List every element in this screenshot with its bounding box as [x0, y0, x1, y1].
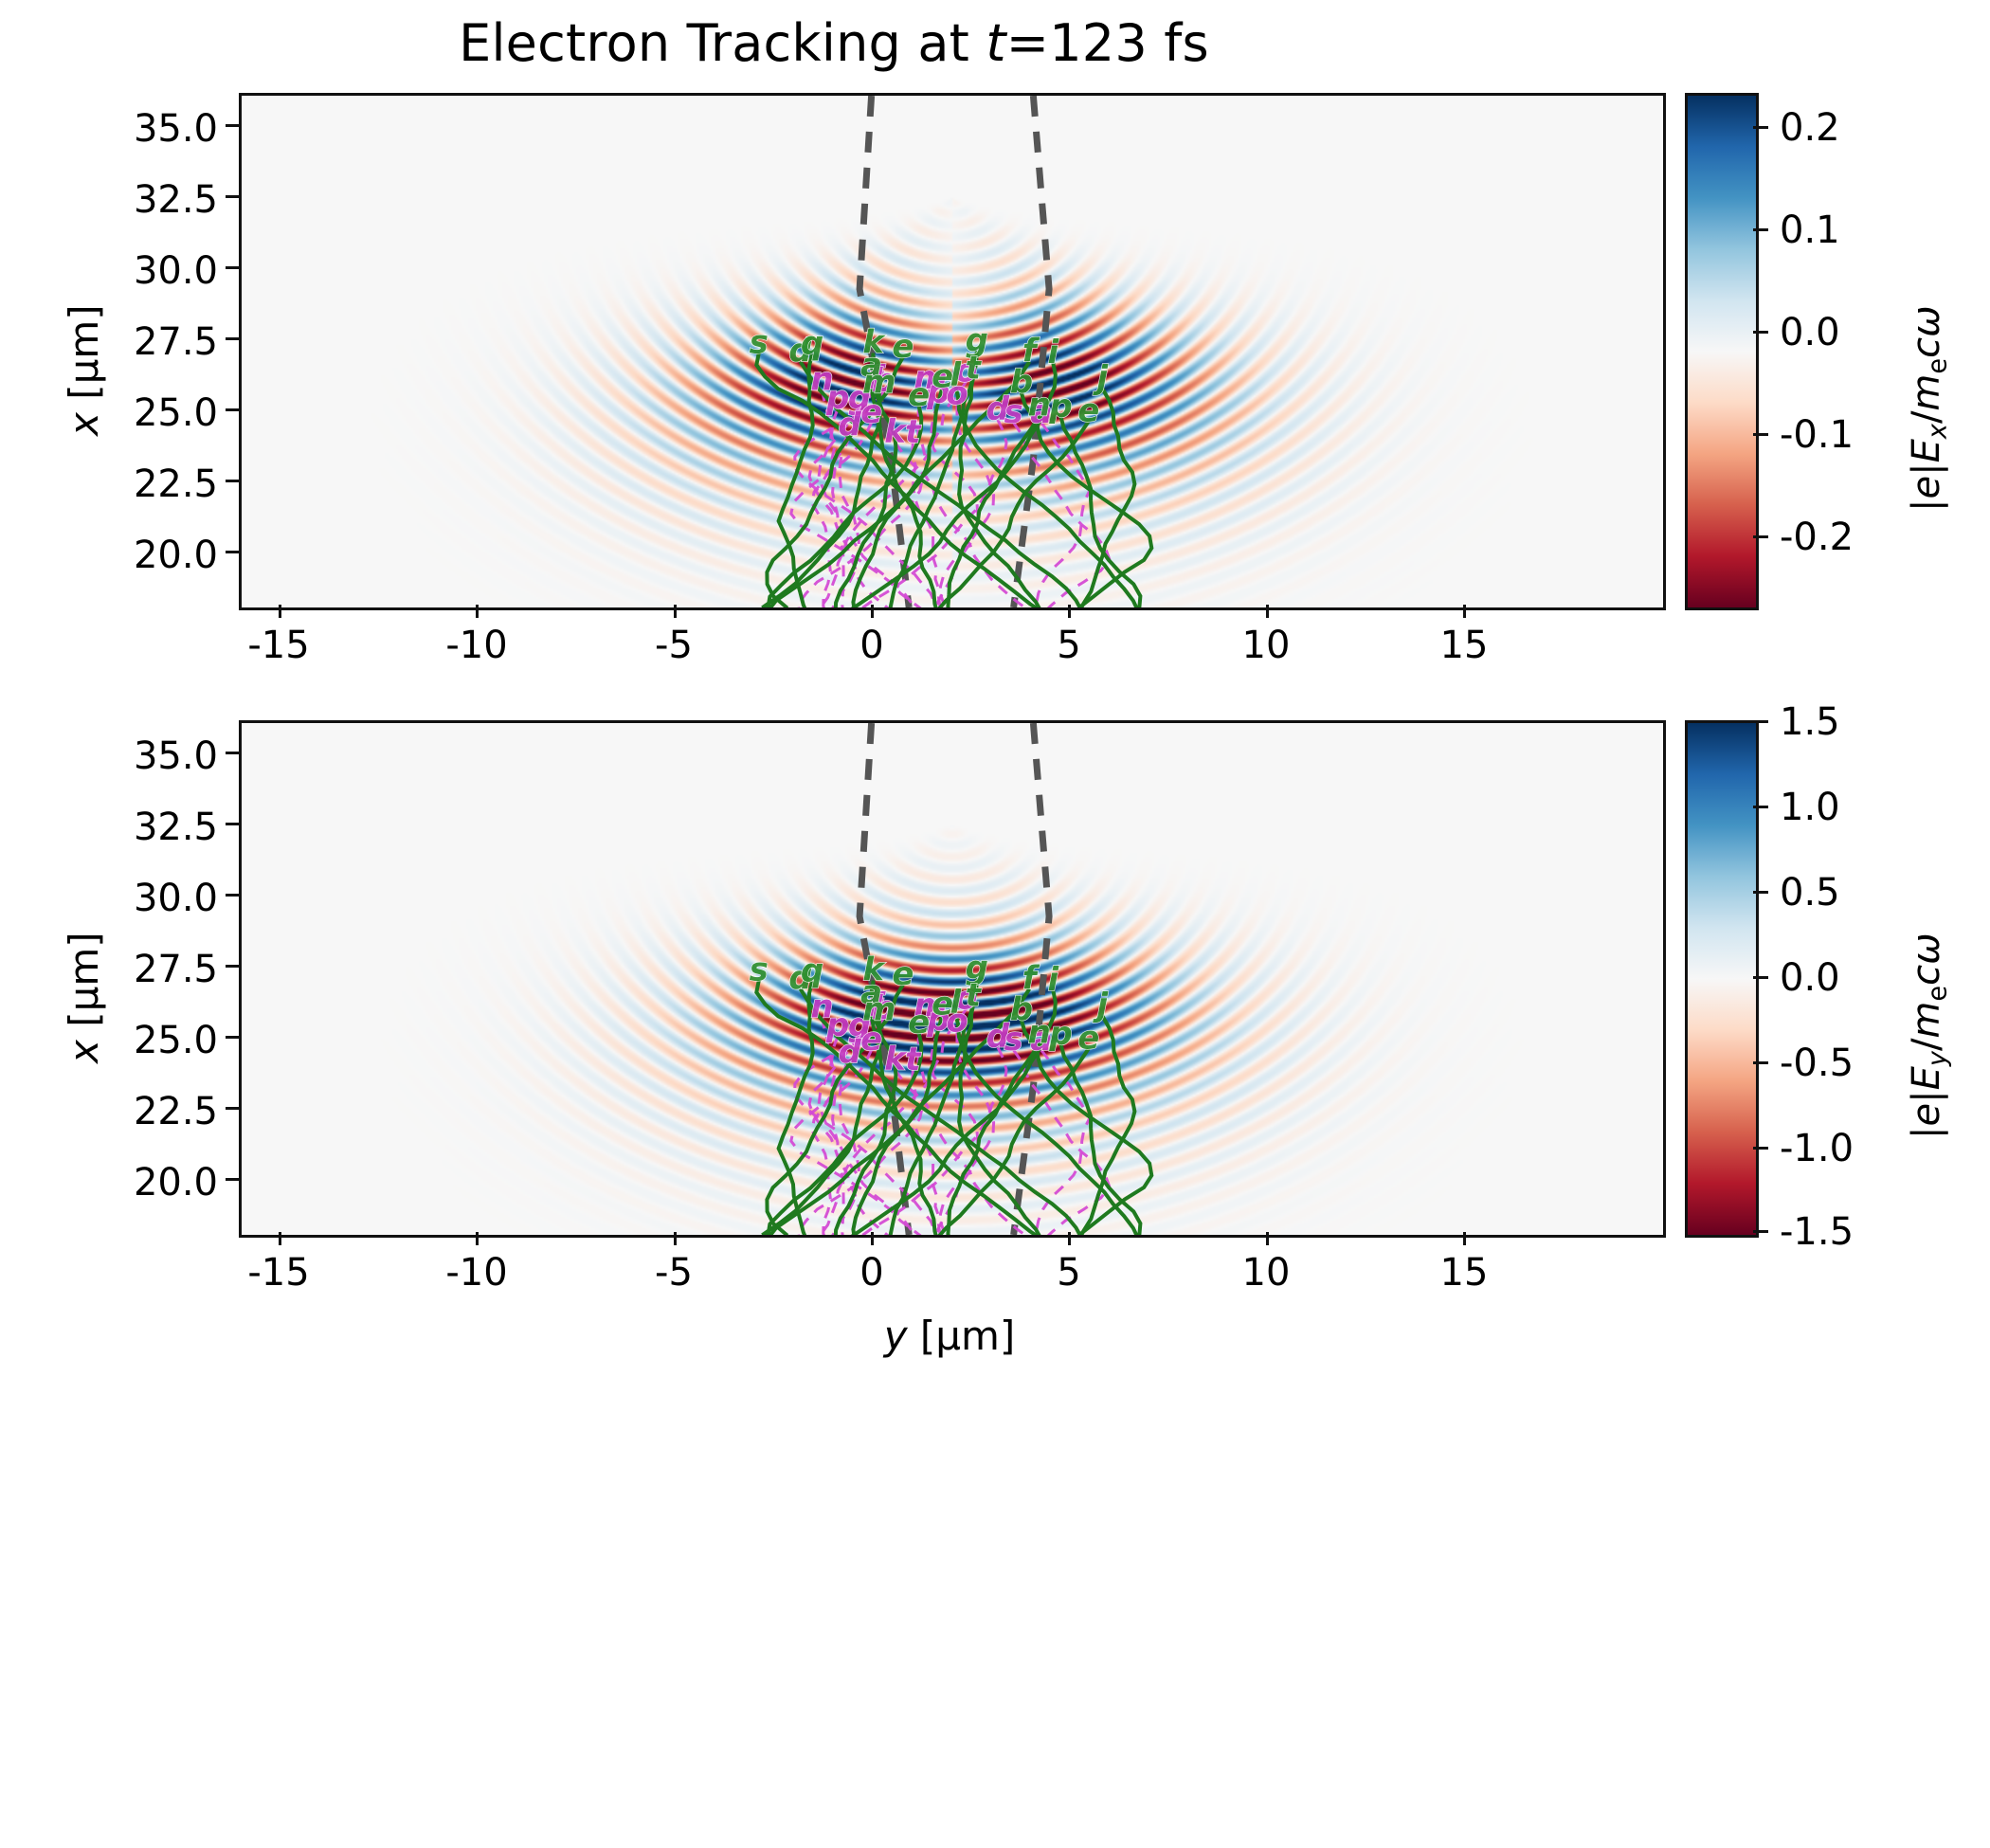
green-track-label: n — [1028, 387, 1051, 425]
xtick-ey-0: -15 — [184, 1251, 373, 1295]
ytickmark-ey — [226, 823, 239, 825]
green-track-label: e — [1077, 392, 1099, 430]
green-track-label: e — [908, 1004, 930, 1042]
magenta-track-label: t — [905, 413, 922, 451]
cbtickmark-ex — [1753, 126, 1768, 129]
xtick-ex-3: 0 — [777, 624, 967, 667]
xtick-ey-6: 15 — [1369, 1251, 1559, 1295]
figure-root: Electron Tracking at t=123 fs nfbgempood… — [0, 0, 1990, 1848]
cbtick-ex-2: 0.0 — [1780, 311, 1840, 354]
green-track-label: t — [966, 977, 983, 1015]
cbtickmark-ey — [1753, 1230, 1768, 1233]
xtickmark-ey — [871, 1232, 874, 1245]
green-track-label: m — [862, 991, 895, 1029]
xtick-ex-0: -15 — [184, 624, 373, 667]
figure-title: Electron Tracking at t=123 fs — [0, 13, 1668, 73]
magenta-trajectory — [1029, 423, 1090, 607]
green-track-label: e — [892, 328, 914, 366]
ytick-ey-6: 20.0 — [28, 1161, 218, 1205]
ytick-ex-2: 30.0 — [28, 249, 218, 293]
y-axis-label-var: x — [61, 412, 107, 436]
green-track-label: s — [750, 951, 769, 989]
ytickmark-ey — [226, 1107, 239, 1110]
ytickmark-ex — [226, 124, 239, 127]
xtick-ey-5: 10 — [1171, 1251, 1361, 1295]
green-track-label: t — [966, 350, 983, 388]
title-equals: = — [1006, 13, 1049, 73]
ytickmark-ex — [226, 195, 239, 198]
ytick-ex-3: 27.5 — [28, 320, 218, 364]
cbtickmark-ey — [1753, 1061, 1768, 1064]
magenta-track-label: k — [884, 413, 908, 451]
ytick-ey-1: 32.5 — [28, 806, 218, 849]
ytick-ey-5: 22.5 — [28, 1090, 218, 1133]
green-track-label: q — [801, 324, 823, 362]
green-track-label: e — [908, 376, 930, 414]
xtickmark-ex — [1068, 605, 1071, 618]
colorbar-ey — [1685, 720, 1759, 1238]
x-axis-label: y [μm] — [665, 1313, 1234, 1359]
cbtick-ex-0: 0.2 — [1780, 106, 1840, 150]
plot-area-ex[interactable]: nfbgempoodsatkpdsdqkeamegltfibnpjee — [239, 93, 1666, 610]
ytickmark-ex — [226, 408, 239, 411]
ytick-ey-0: 35.0 — [28, 734, 218, 778]
ytickmark-ex — [226, 551, 239, 553]
xtickmark-ex — [871, 605, 874, 618]
green-track-label: q — [801, 951, 823, 989]
ytickmark-ey — [226, 1178, 239, 1181]
green-track-label: p — [1048, 1015, 1072, 1053]
ytick-ex-0: 35.0 — [28, 107, 218, 151]
xtickmark-ex — [1266, 605, 1269, 618]
cbtick-ey-0: 1.5 — [1780, 700, 1840, 744]
xtickmark-ey — [674, 1232, 677, 1245]
magenta-track-label: d — [839, 1034, 862, 1072]
magenta-trajectory — [1029, 1050, 1090, 1235]
xtickmark-ey — [279, 1232, 281, 1245]
plot-area-ey[interactable]: nfbgempoodsatkpdsdqkeamegltfibnpjee — [239, 720, 1666, 1238]
xtick-ey-3: 0 — [777, 1251, 967, 1295]
xtick-ey-1: -10 — [382, 1251, 571, 1295]
ytick-ex-4: 25.0 — [28, 391, 218, 435]
green-track-label: e — [892, 955, 914, 993]
green-track-label: l — [950, 984, 962, 1022]
y-axis-label-unit: [μm] — [61, 932, 107, 1040]
cbtick-ey-1: 1.0 — [1780, 786, 1840, 829]
xtickmark-ey — [476, 1232, 479, 1245]
green-track-label: s — [750, 324, 769, 362]
ytickmark-ey — [226, 965, 239, 968]
y-axis-label-ex: x [μm] — [61, 304, 107, 436]
colorbar-ex — [1685, 93, 1759, 610]
title-unit: fs — [1148, 13, 1209, 73]
ytick-ey-4: 25.0 — [28, 1019, 218, 1062]
xtickmark-ex — [674, 605, 677, 618]
ytickmark-ey — [226, 894, 239, 897]
cbtickmark-ey — [1753, 1147, 1768, 1150]
title-variable: t — [986, 13, 1005, 73]
green-track-label: n — [1028, 1014, 1051, 1052]
x-axis-label-var: y — [884, 1313, 908, 1359]
ytickmark-ey — [226, 1036, 239, 1039]
cbtickmark-ey — [1753, 976, 1768, 979]
xtick-ex-6: 15 — [1369, 624, 1559, 667]
y-axis-label-var: x — [61, 1040, 107, 1063]
colorbar-label-ex: |e|Ex/mecω — [1905, 305, 1953, 512]
colorbar-label-ey: |e|Ey/mecω — [1905, 933, 1953, 1139]
cbtick-ey-2: 0.5 — [1780, 871, 1840, 915]
green-track-label: i — [1047, 961, 1059, 999]
xtickmark-ey — [1463, 1232, 1466, 1245]
xtick-ey-4: 5 — [974, 1251, 1164, 1295]
cbtickmark-ey — [1753, 720, 1768, 723]
cbtickmark-ex — [1753, 331, 1768, 334]
ytick-ex-5: 22.5 — [28, 462, 218, 506]
cbtick-ey-4: -0.5 — [1780, 1042, 1854, 1085]
xtickmark-ex — [1463, 605, 1466, 618]
magenta-track-label: k — [884, 1041, 908, 1078]
xtick-ex-1: -10 — [382, 624, 571, 667]
magenta-track-label: d — [839, 407, 862, 444]
ytick-ex-6: 20.0 — [28, 534, 218, 577]
cbtick-ex-1: 0.1 — [1780, 208, 1840, 252]
title-value: 123 — [1049, 13, 1148, 73]
ytick-ex-1: 32.5 — [28, 178, 218, 222]
xtickmark-ex — [476, 605, 479, 618]
x-axis-label-unit: [μm] — [908, 1313, 1016, 1359]
cbtickmark-ex — [1753, 535, 1768, 538]
cbtickmark-ey — [1753, 806, 1768, 808]
xtick-ey-2: -5 — [579, 1251, 769, 1295]
cbtick-ey-5: -1.0 — [1780, 1127, 1854, 1170]
xtickmark-ey — [1068, 1232, 1071, 1245]
green-track-label: e — [1077, 1020, 1099, 1058]
y-axis-label-ey: x [μm] — [61, 932, 107, 1063]
ytickmark-ex — [226, 480, 239, 482]
green-track-label: l — [950, 356, 962, 394]
xtick-ex-2: -5 — [579, 624, 769, 667]
green-track-label: p — [1048, 388, 1072, 426]
green-track-label: m — [862, 364, 895, 402]
cbtickmark-ex — [1753, 228, 1768, 231]
cbtick-ex-3: -0.1 — [1780, 413, 1854, 457]
y-axis-label-unit: [μm] — [61, 304, 107, 412]
cbtickmark-ex — [1753, 433, 1768, 436]
trajectory-overlay-ex: nfbgempoodsatkpdsdqkeamegltfibnpjee — [242, 96, 1663, 607]
title-prefix: Electron Tracking at — [459, 13, 986, 73]
cbtick-ex-4: -0.2 — [1780, 516, 1854, 559]
ytick-ey-2: 30.0 — [28, 877, 218, 920]
xtickmark-ex — [279, 605, 281, 618]
xtick-ex-4: 5 — [974, 624, 1164, 667]
cbtick-ey-6: -1.5 — [1780, 1210, 1854, 1254]
ytickmark-ex — [226, 266, 239, 269]
trajectory-overlay-ey: nfbgempoodsatkpdsdqkeamegltfibnpjee — [242, 723, 1663, 1235]
magenta-track-label: t — [905, 1041, 922, 1078]
ytickmark-ex — [226, 337, 239, 340]
xtick-ex-5: 10 — [1171, 624, 1361, 667]
ytick-ey-3: 27.5 — [28, 948, 218, 991]
ytickmark-ey — [226, 752, 239, 754]
green-track-label: i — [1047, 334, 1059, 371]
cbtickmark-ey — [1753, 891, 1768, 894]
cbtick-ey-3: 0.0 — [1780, 956, 1840, 1000]
xtickmark-ey — [1266, 1232, 1269, 1245]
